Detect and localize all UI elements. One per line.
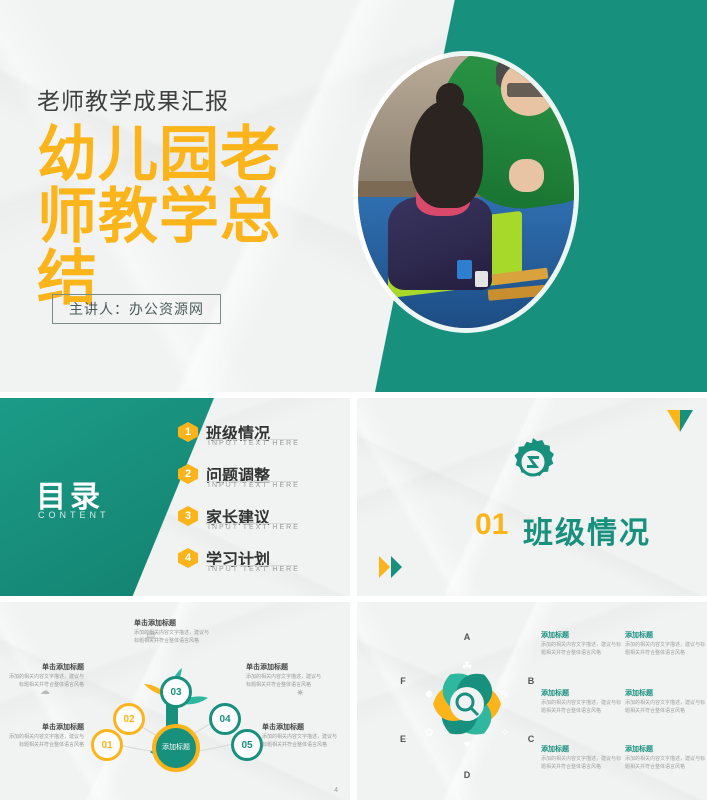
tree-node-05[interactable]: 05 <box>231 729 263 761</box>
toc-badge: 1 <box>178 422 198 442</box>
note-body: 添加的相关内容文字描述，建议与标题相关并符合整体语言风格 <box>625 700 707 716</box>
toc-item-en: INPUT TEXT HERE <box>208 440 300 447</box>
slide-tree-diagram[interactable]: 添加标题 01 02 03 04 05 ☁ ▤ ✷ 单击添加标题 添加的相关内容… <box>0 602 350 800</box>
tree-center-label: 添加标题 <box>152 724 200 772</box>
toc-item-en: INPUT TEXT HERE <box>208 482 300 489</box>
pencil-icon: ✎ <box>500 689 509 701</box>
note-body: 添加的相关内容文字描述，建议与标题相关并符合整体语言风格 <box>262 734 340 749</box>
flower-note-4: 添加标题 添加的相关内容文字描述，建议与标题相关并符合整体语言风格 <box>625 688 707 716</box>
note-title: 单击添加标题 <box>134 618 212 628</box>
note-body: 添加的相关内容文字描述，建议与标题相关并符合整体语言风格 <box>246 674 324 689</box>
petal-letter-D: D <box>464 770 471 780</box>
cover-presenter: 主讲人：办公资源网 <box>52 294 221 324</box>
star-icon: ✧ <box>500 727 509 739</box>
section-number: 01 <box>475 508 508 542</box>
gutter-vertical <box>350 392 357 800</box>
tree-note-top: 单击添加标题 添加的相关内容文字描述，建议与标题相关并符合整体语言风格 <box>134 618 212 645</box>
leaf-icon: ☘ <box>462 659 473 673</box>
cover-photo <box>358 56 574 328</box>
petal-letter-E: E <box>400 734 406 744</box>
cover-kicker: 老师教学成果汇报 <box>37 82 229 116</box>
gear-icon <box>505 434 561 490</box>
note-body: 添加的相关内容文字描述，建议与标题相关并符合整体语言风格 <box>6 674 84 689</box>
note-body: 添加的相关内容文字描述，建议与标题相关并符合整体语言风格 <box>541 642 623 658</box>
slide-cover[interactable]: 老师教学成果汇报 幼儿园老师教学总结 主讲人：办公资源网 <box>0 0 707 392</box>
tree-note-right-top: 单击添加标题 添加的相关内容文字描述，建议与标题相关并符合整体语言风格 <box>246 662 324 689</box>
note-body: 添加的相关内容文字描述，建议与标题相关并符合整体语言风格 <box>134 630 212 645</box>
flower-note-6: 添加标题 添加的相关内容文字描述，建议与标题相关并符合整体语言风格 <box>625 744 707 772</box>
slide-flower-diagram[interactable]: A B C D E F ☘ ✎ ✧ ♥ ✿ ✹ 添加标题 添加的相关内容文字描述… <box>357 602 707 800</box>
note-title: 添加标题 <box>541 688 623 698</box>
note-body: 添加的相关内容文字描述，建议与标题相关并符合整体语言风格 <box>625 642 707 658</box>
petal-letter-F: F <box>400 676 406 686</box>
note-title: 添加标题 <box>541 630 623 640</box>
slide-section-header[interactable]: 01 班级情况 <box>357 398 707 596</box>
flower-icon: ✿ <box>424 727 433 739</box>
photo-illustration <box>358 56 574 328</box>
section-title: 班级情况 <box>523 508 651 552</box>
slide-contents[interactable]: 目录 CONTENT 1 班级情况 INPUT TEXT HERE 2 问题调整… <box>0 398 350 596</box>
flower-note-1: 添加标题 添加的相关内容文字描述，建议与标题相关并符合整体语言风格 <box>541 630 623 658</box>
tree-node-03[interactable]: 03 <box>160 676 192 708</box>
flower-note-3: 添加标题 添加的相关内容文字描述，建议与标题相关并符合整体语言风格 <box>541 688 623 716</box>
note-title: 单击添加标题 <box>246 662 324 672</box>
list-item[interactable]: 1 班级情况 INPUT TEXT HERE <box>178 420 338 457</box>
note-title: 添加标题 <box>625 630 707 640</box>
list-item[interactable]: 2 问题调整 INPUT TEXT HERE <box>178 462 338 499</box>
petal-letter-A: A <box>464 632 471 642</box>
contents-list: 1 班级情况 INPUT TEXT HERE 2 问题调整 INPUT TEXT… <box>178 420 338 588</box>
tree-note-left-bottom: 单击添加标题 添加的相关内容文字描述，建议与标题相关并符合整体语言风格 <box>6 722 84 749</box>
gear-small-icon: ✷ <box>296 688 304 699</box>
heart-icon: ♥ <box>464 739 471 751</box>
note-title: 添加标题 <box>625 688 707 698</box>
toc-item-en: INPUT TEXT HERE <box>208 524 300 531</box>
tree-note-left-top: 单击添加标题 添加的相关内容文字描述，建议与标题相关并符合整体语言风格 <box>6 662 84 689</box>
petal-letter-B: B <box>528 676 535 686</box>
toc-badge: 3 <box>178 506 198 526</box>
note-title: 添加标题 <box>625 744 707 754</box>
toc-badge: 2 <box>178 464 198 484</box>
tree-node-04[interactable]: 04 <box>209 703 241 735</box>
tree-node-02[interactable]: 02 <box>113 703 145 735</box>
note-title: 单击添加标题 <box>6 662 84 672</box>
note-title: 单击添加标题 <box>6 722 84 732</box>
note-body: 添加的相关内容文字描述，建议与标题相关并符合整体语言风格 <box>6 734 84 749</box>
toc-badge: 4 <box>178 548 198 568</box>
corner-triangle-bottom <box>379 554 405 580</box>
tree-node-01[interactable]: 01 <box>91 729 123 761</box>
note-title: 单击添加标题 <box>262 722 340 732</box>
slide-deck: 老师教学成果汇报 幼儿园老师教学总结 主讲人：办公资源网 目录 CONTENT … <box>0 0 707 800</box>
tree-note-right-bottom: 单击添加标题 添加的相关内容文字描述，建议与标题相关并符合整体语言风格 <box>262 722 340 749</box>
contents-subtitle: CONTENT <box>38 510 110 520</box>
list-item[interactable]: 3 家长建议 INPUT TEXT HERE <box>178 504 338 541</box>
flower-note-5: 添加标题 添加的相关内容文字描述，建议与标题相关并符合整体语言风格 <box>541 744 623 772</box>
cover-title: 幼儿园老师教学总结 <box>37 124 337 309</box>
toc-item-en: INPUT TEXT HERE <box>208 566 300 573</box>
note-body: 添加的相关内容文字描述，建议与标题相关并符合整体语言风格 <box>625 756 707 772</box>
list-item[interactable]: 4 学习计划 INPUT TEXT HERE <box>178 546 338 583</box>
bulb-icon: ✹ <box>424 689 433 701</box>
note-title: 添加标题 <box>541 744 623 754</box>
corner-triangle-top <box>667 410 693 436</box>
petal-letter-C: C <box>528 734 535 744</box>
flower-note-2: 添加标题 添加的相关内容文字描述，建议与标题相关并符合整体语言风格 <box>625 630 707 658</box>
page-number: 4 <box>334 787 338 794</box>
note-body: 添加的相关内容文字描述，建议与标题相关并符合整体语言风格 <box>541 700 623 716</box>
note-body: 添加的相关内容文字描述，建议与标题相关并符合整体语言风格 <box>541 756 623 772</box>
